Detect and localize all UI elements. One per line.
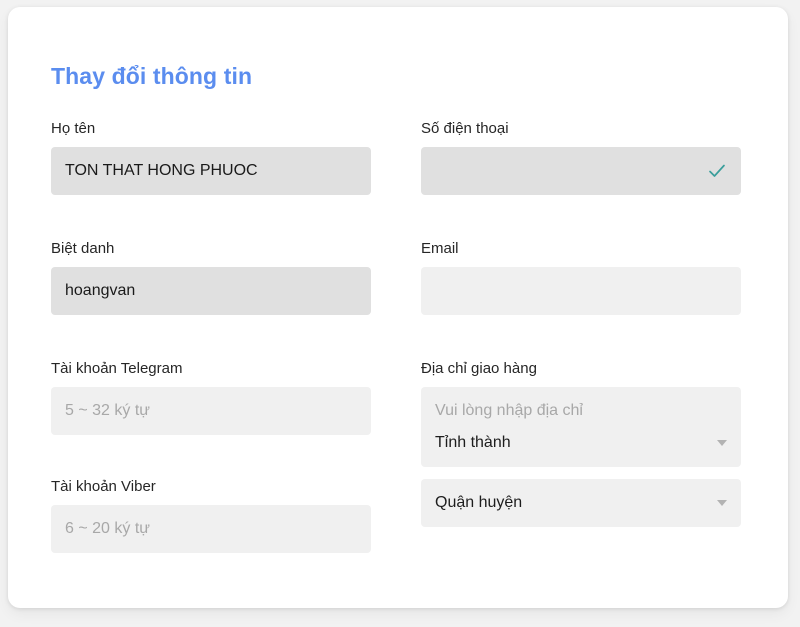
profile-edit-card: Thay đổi thông tin Họ tên TON THAT HONG … [8,7,788,608]
field-district: Quận huyện [421,479,741,527]
input-telegram[interactable]: 5 ~ 32 ký tự [51,387,371,435]
field-viber: Tài khoản Viber 6 ~ 20 ký tự [51,477,371,553]
field-label-nickname: Biệt danh [51,239,371,259]
field-telegram: Tài khoản Telegram 5 ~ 32 ký tự [51,359,371,435]
chevron-down-icon [717,440,727,446]
input-phone[interactable] [421,147,741,195]
field-phone: Số điện thoại [421,119,741,195]
input-nickname[interactable]: hoangvan [51,267,371,315]
select-province[interactable]: Tỉnh thành [421,419,741,467]
page-title: Thay đổi thông tin [51,63,252,90]
field-label-email: Email [421,239,741,259]
field-province: Tỉnh thành [421,419,741,467]
field-email: Email [421,239,741,315]
input-telegram-placeholder: 5 ~ 32 ký tự [65,402,150,420]
field-label-telegram: Tài khoản Telegram [51,359,371,379]
field-label-shipping-address: Địa chỉ giao hàng [421,359,741,379]
field-label-phone: Số điện thoại [421,119,741,139]
input-email[interactable] [421,267,741,315]
input-viber-placeholder: 6 ~ 20 ký tự [65,520,150,538]
select-province-value: Tỉnh thành [435,434,511,452]
page-root: Thay đổi thông tin Họ tên TON THAT HONG … [0,0,800,627]
input-full-name-value: TON THAT HONG PHUOC [65,162,258,180]
input-shipping-address-placeholder: Vui lòng nhập địa chỉ [435,402,583,420]
field-nickname: Biệt danh hoangvan [51,239,371,315]
input-viber[interactable]: 6 ~ 20 ký tự [51,505,371,553]
input-nickname-value: hoangvan [65,282,135,300]
chevron-down-icon [717,500,727,506]
select-district[interactable]: Quận huyện [421,479,741,527]
input-full-name[interactable]: TON THAT HONG PHUOC [51,147,371,195]
field-label-viber: Tài khoản Viber [51,477,371,497]
select-district-value: Quận huyện [435,494,522,512]
check-icon [707,161,727,181]
field-full-name: Họ tên TON THAT HONG PHUOC [51,119,371,195]
field-label-full-name: Họ tên [51,119,371,139]
